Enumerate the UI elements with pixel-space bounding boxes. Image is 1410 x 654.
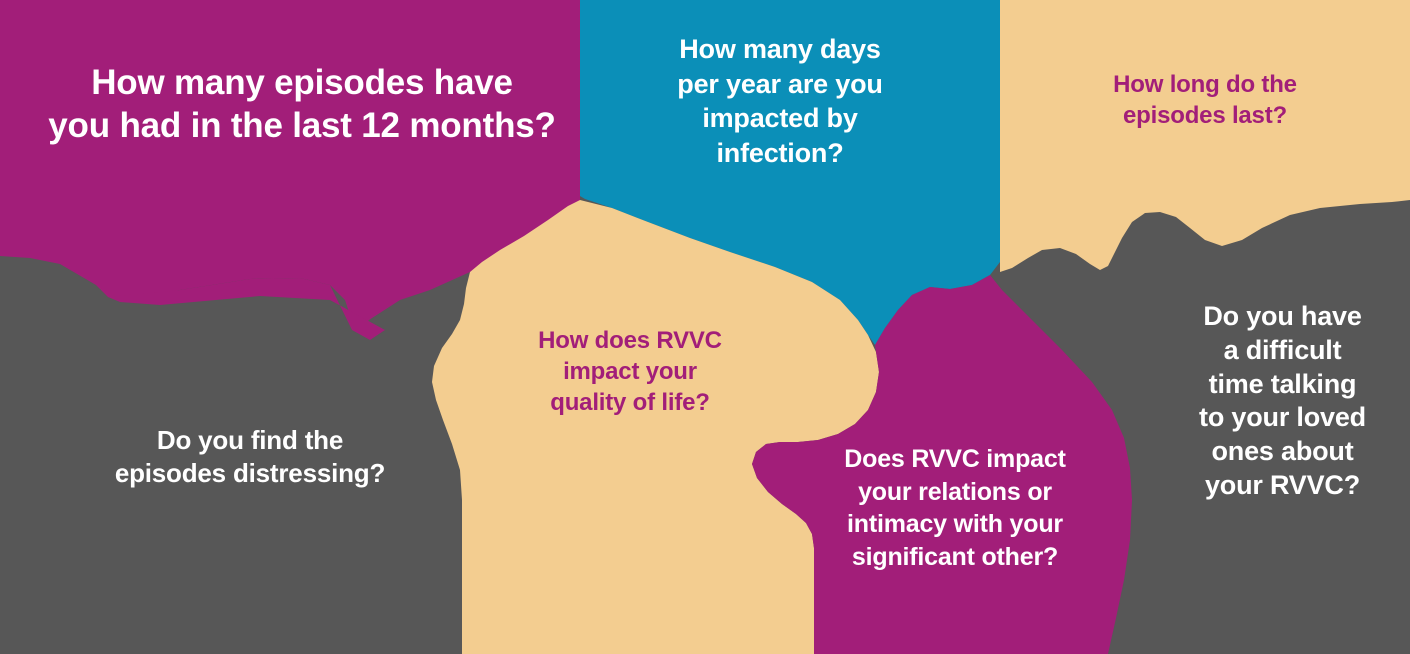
question-quality-of-life: How does RVVC impact your quality of lif… <box>490 325 770 419</box>
question-talking-loved-ones: Do you have a difficult time talking to … <box>1165 300 1400 503</box>
question-episodes-last: How long do the episodes last? <box>1060 70 1350 131</box>
question-days-per-year: How many days per year are you impacted … <box>640 32 920 170</box>
question-episodes-12-months: How many episodes have you had in the la… <box>22 62 582 147</box>
infographic-canvas: How many episodes have you had in the la… <box>0 0 1410 654</box>
question-relations-intimacy: Does RVVC impact your relations or intim… <box>805 443 1105 573</box>
question-find-distressing: Do you find the episodes distressing? <box>70 424 430 491</box>
